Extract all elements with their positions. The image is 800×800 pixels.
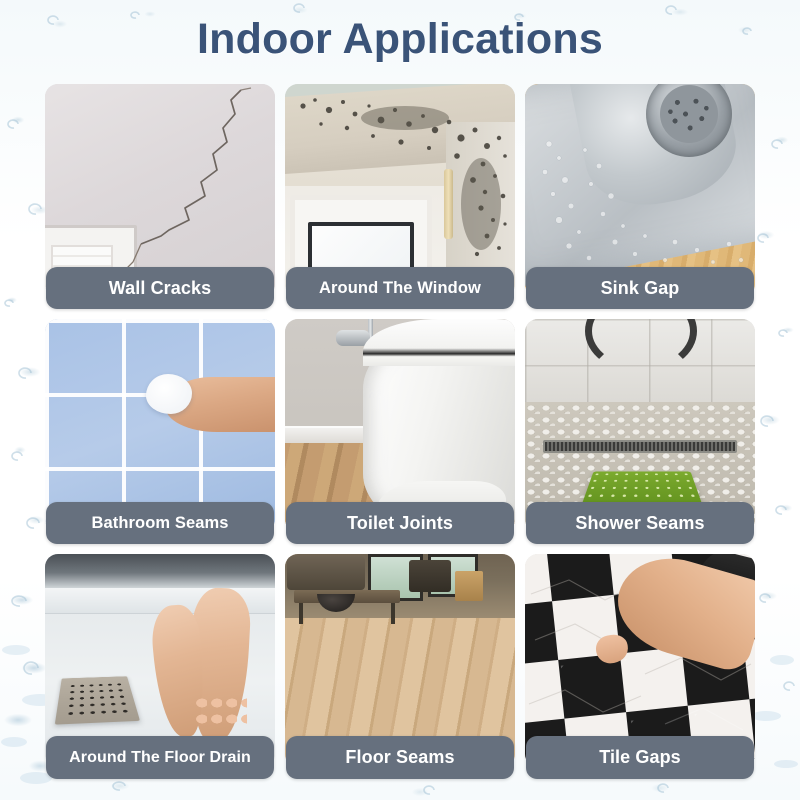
card-label-sink-gap: Sink Gap — [526, 267, 754, 309]
page-header: Indoor Applications — [0, 0, 800, 78]
application-card-toilet-joints[interactable]: Toilet Joints — [285, 319, 515, 544]
application-card-shower-seams[interactable]: Shower Seams — [525, 319, 755, 544]
application-card-around-the-floor-drain[interactable]: Around The Floor Drain — [45, 554, 275, 779]
card-label-toilet-joints: Toilet Joints — [286, 502, 514, 544]
card-label-around-the-window: Around The Window — [286, 267, 514, 309]
application-card-wall-cracks[interactable]: Wall Cracks — [45, 84, 275, 309]
shower-seam-icon — [525, 319, 755, 532]
card-label-tile-gaps: Tile Gaps — [526, 736, 754, 779]
card-label-floor-seams: Floor Seams — [286, 736, 514, 779]
toilet-joint-icon — [285, 319, 515, 532]
sink-gap-icon — [525, 84, 755, 297]
page-title: Indoor Applications — [197, 15, 603, 64]
wall-crack-icon — [45, 84, 275, 297]
card-label-shower-seams: Shower Seams — [526, 502, 754, 544]
window-mold-icon — [285, 84, 515, 297]
card-label-around-the-floor-drain: Around The Floor Drain — [46, 736, 274, 779]
application-card-around-the-window[interactable]: Around The Window — [285, 84, 515, 309]
bathroom-seam-icon — [45, 319, 275, 532]
application-card-sink-gap[interactable]: Sink Gap — [525, 84, 755, 309]
card-label-bathroom-seams: Bathroom Seams — [46, 502, 274, 544]
application-card-floor-seams[interactable]: Floor Seams — [285, 554, 515, 779]
application-card-tile-gaps[interactable]: Tile Gaps — [525, 554, 755, 779]
card-label-wall-cracks: Wall Cracks — [46, 267, 274, 309]
applications-grid: Wall Cracks — [45, 84, 755, 789]
application-card-bathroom-seams[interactable]: Bathroom Seams — [45, 319, 275, 544]
